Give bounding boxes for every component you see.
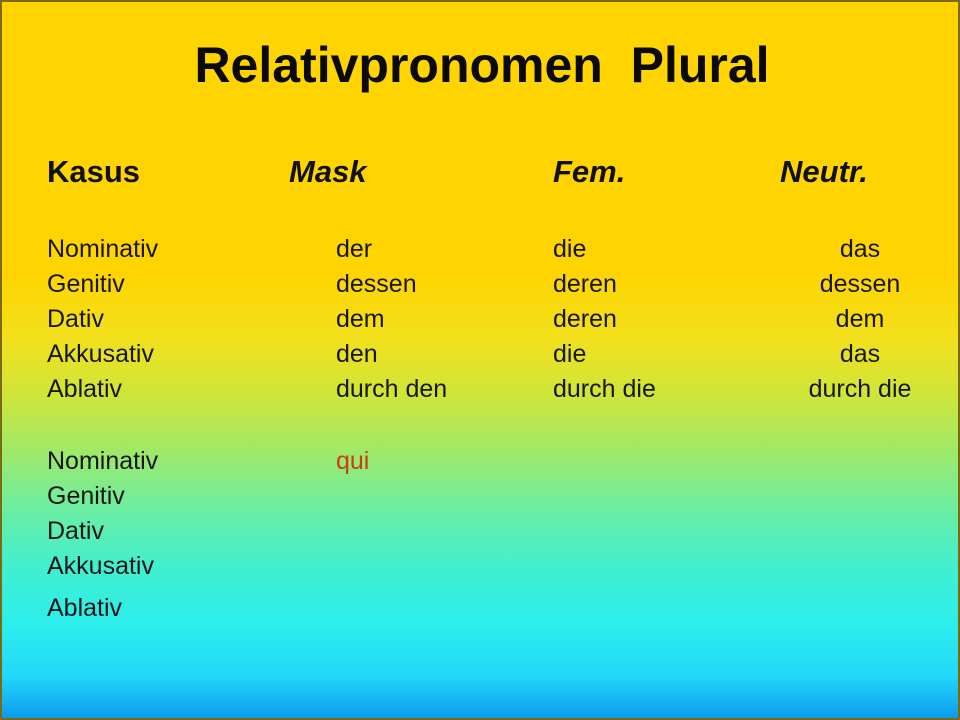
cell-case: Ablativ [47, 593, 122, 623]
cell-case: Genitiv [47, 269, 125, 299]
cell-case: Dativ [47, 516, 104, 546]
table-row: Dativdemderendem [2, 304, 960, 339]
table-row: Akkusativdendiedas [2, 339, 960, 374]
column-header-neuter: Neutr. [780, 154, 868, 190]
cell-masculine: den [336, 339, 378, 369]
cell-case: Genitiv [47, 481, 125, 511]
cell-case: Akkusativ [47, 339, 154, 369]
table-row: Akkusativ [2, 551, 960, 593]
cell-masculine: dessen [336, 269, 417, 299]
cell-case: Nominativ [47, 234, 158, 264]
page-title: Relativpronomen Plural [2, 36, 960, 94]
table-row: Ablativ [2, 593, 960, 628]
presentation-slide: Relativpronomen Plural Kasus Mask Fem. N… [0, 0, 960, 720]
cell-masculine: durch den [336, 374, 447, 404]
cell-case: Ablativ [47, 374, 122, 404]
column-header-kasus: Kasus [47, 154, 140, 190]
table-row: Genitiv [2, 481, 960, 516]
cell-neuter: dessen [780, 269, 940, 299]
cell-neuter: durch die [780, 374, 940, 404]
cell-case: Akkusativ [47, 551, 154, 581]
table-row: Dativ [2, 516, 960, 551]
table-row: Ablativdurch dendurch diedurch die [2, 374, 960, 409]
cell-feminine: die [553, 339, 586, 369]
table-row: Nominativqui [2, 446, 960, 481]
cell-neuter: dem [780, 304, 940, 334]
cell-neuter: das [780, 339, 940, 369]
cell-feminine: deren [553, 269, 617, 299]
cell-case: Dativ [47, 304, 104, 334]
cell-feminine: die [553, 234, 586, 264]
table-row: Genitivdessenderendessen [2, 269, 960, 304]
cell-case: Nominativ [47, 446, 158, 476]
cell-feminine: durch die [553, 374, 656, 404]
cell-masculine: dem [336, 304, 385, 334]
column-header-feminine: Fem. [553, 154, 625, 190]
table-row: Nominativderdiedas [2, 234, 960, 269]
cell-masculine: der [336, 234, 372, 264]
cell-feminine: deren [553, 304, 617, 334]
declension-table-german: NominativderdiedasGenitivdessenderendess… [2, 234, 960, 409]
cell-neuter: das [780, 234, 940, 264]
column-header-masculine: Mask [289, 154, 367, 190]
declension-table-latin: NominativquiGenitivDativAkkusativAblativ [2, 446, 960, 628]
cell-masculine: qui [336, 446, 369, 476]
